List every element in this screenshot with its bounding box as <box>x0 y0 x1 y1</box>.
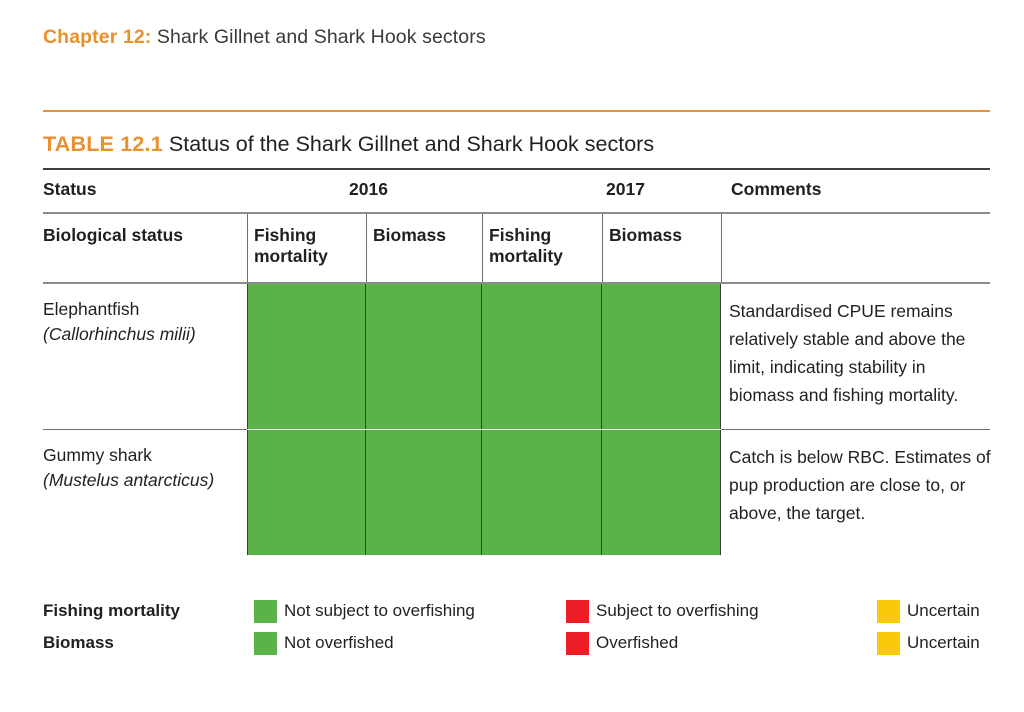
column-header-fishing-mortality-2016: Fishing mortality <box>254 225 359 267</box>
column-header-biomass-2016: Biomass <box>373 225 473 246</box>
legend-title-biomass: Biomass <box>43 633 114 653</box>
legend-row-fishing-mortality: Fishing mortality Not subject to overfis… <box>43 598 993 630</box>
table-number-label: TABLE 12.1 <box>43 132 163 156</box>
table-title: Status of the Shark Gillnet and Shark Ho… <box>169 132 654 156</box>
legend-swatch-red-icon <box>566 600 589 623</box>
legend-title-fishing-mortality: Fishing mortality <box>43 601 180 621</box>
legend-row-biomass: Biomass Not overfished Overfished Uncert… <box>43 630 993 662</box>
table-header-row-metrics: Biological status Fishing mortality Biom… <box>43 214 990 282</box>
status-cell-biomass-2017 <box>602 284 721 429</box>
status-cell-biomass-2016 <box>366 430 482 555</box>
status-cells-group <box>247 430 721 555</box>
chapter-heading: Chapter 12: Shark Gillnet and Shark Hook… <box>43 24 486 50</box>
column-header-status: Status <box>43 179 96 200</box>
column-separator-1 <box>247 214 248 282</box>
status-cell-biomass-2017 <box>602 430 721 555</box>
species-name-cell: Gummy shark (Mustelus antarcticus) <box>43 443 241 493</box>
table-row: Elephantfish (Callorhinchus milii) Stand… <box>43 284 990 429</box>
status-cell-fishing-mortality-2016 <box>247 284 366 429</box>
legend-label-not-subject-to-overfishing: Not subject to overfishing <box>284 601 475 621</box>
column-header-biological-status: Biological status <box>43 225 243 246</box>
column-header-fishing-mortality-2017: Fishing mortality <box>489 225 594 267</box>
legend-swatch-yellow-icon <box>877 632 900 655</box>
legend-swatch-yellow-icon <box>877 600 900 623</box>
legend-swatch-red-icon <box>566 632 589 655</box>
column-separator-5 <box>721 214 722 282</box>
orange-divider-rule <box>43 110 990 112</box>
legend-label-not-overfished: Not overfished <box>284 633 394 653</box>
column-separator-3 <box>482 214 483 282</box>
column-header-comments: Comments <box>731 179 821 200</box>
species-scientific-name: (Callorhinchus milii) <box>43 322 241 347</box>
status-cells-group <box>247 284 721 429</box>
status-cell-fishing-mortality-2016 <box>247 430 366 555</box>
legend-label-uncertain-biomass: Uncertain <box>907 633 980 653</box>
species-common-name: Elephantfish <box>43 297 241 322</box>
legend-swatch-green-icon <box>254 600 277 623</box>
chapter-number-label: Chapter 12: <box>43 26 151 48</box>
table-header-row-years: Status 2016 2017 Comments <box>43 170 990 212</box>
column-header-2016: 2016 <box>349 179 388 200</box>
column-separator-4 <box>602 214 603 282</box>
status-cell-fishing-mortality-2017 <box>482 430 602 555</box>
species-scientific-name: (Mustelus antarcticus) <box>43 468 241 493</box>
species-common-name: Gummy shark <box>43 443 241 468</box>
legend-label-overfished: Overfished <box>596 633 678 653</box>
legend-label-subject-to-overfishing: Subject to overfishing <box>596 601 759 621</box>
status-cell-biomass-2016 <box>366 284 482 429</box>
page: Chapter 12: Shark Gillnet and Shark Hook… <box>0 0 1024 712</box>
comments-cell: Catch is below RBC. Estimates of pup pro… <box>729 443 991 527</box>
legend-swatch-green-icon <box>254 632 277 655</box>
legend-label-uncertain-fishing-mortality: Uncertain <box>907 601 980 621</box>
table-caption: TABLE 12.1 Status of the Shark Gillnet a… <box>43 130 654 158</box>
comments-cell: Standardised CPUE remains relatively sta… <box>729 297 991 409</box>
column-header-2017: 2017 <box>606 179 645 200</box>
status-legend: Fishing mortality Not subject to overfis… <box>43 598 993 662</box>
status-table: Status 2016 2017 Comments Biological sta… <box>43 168 990 555</box>
species-name-cell: Elephantfish (Callorhinchus milii) <box>43 297 241 347</box>
status-cell-fishing-mortality-2017 <box>482 284 602 429</box>
chapter-title: Shark Gillnet and Shark Hook sectors <box>157 26 486 48</box>
table-row: Gummy shark (Mustelus antarcticus) Catch… <box>43 430 990 555</box>
column-header-biomass-2017: Biomass <box>609 225 709 246</box>
column-separator-2 <box>366 214 367 282</box>
